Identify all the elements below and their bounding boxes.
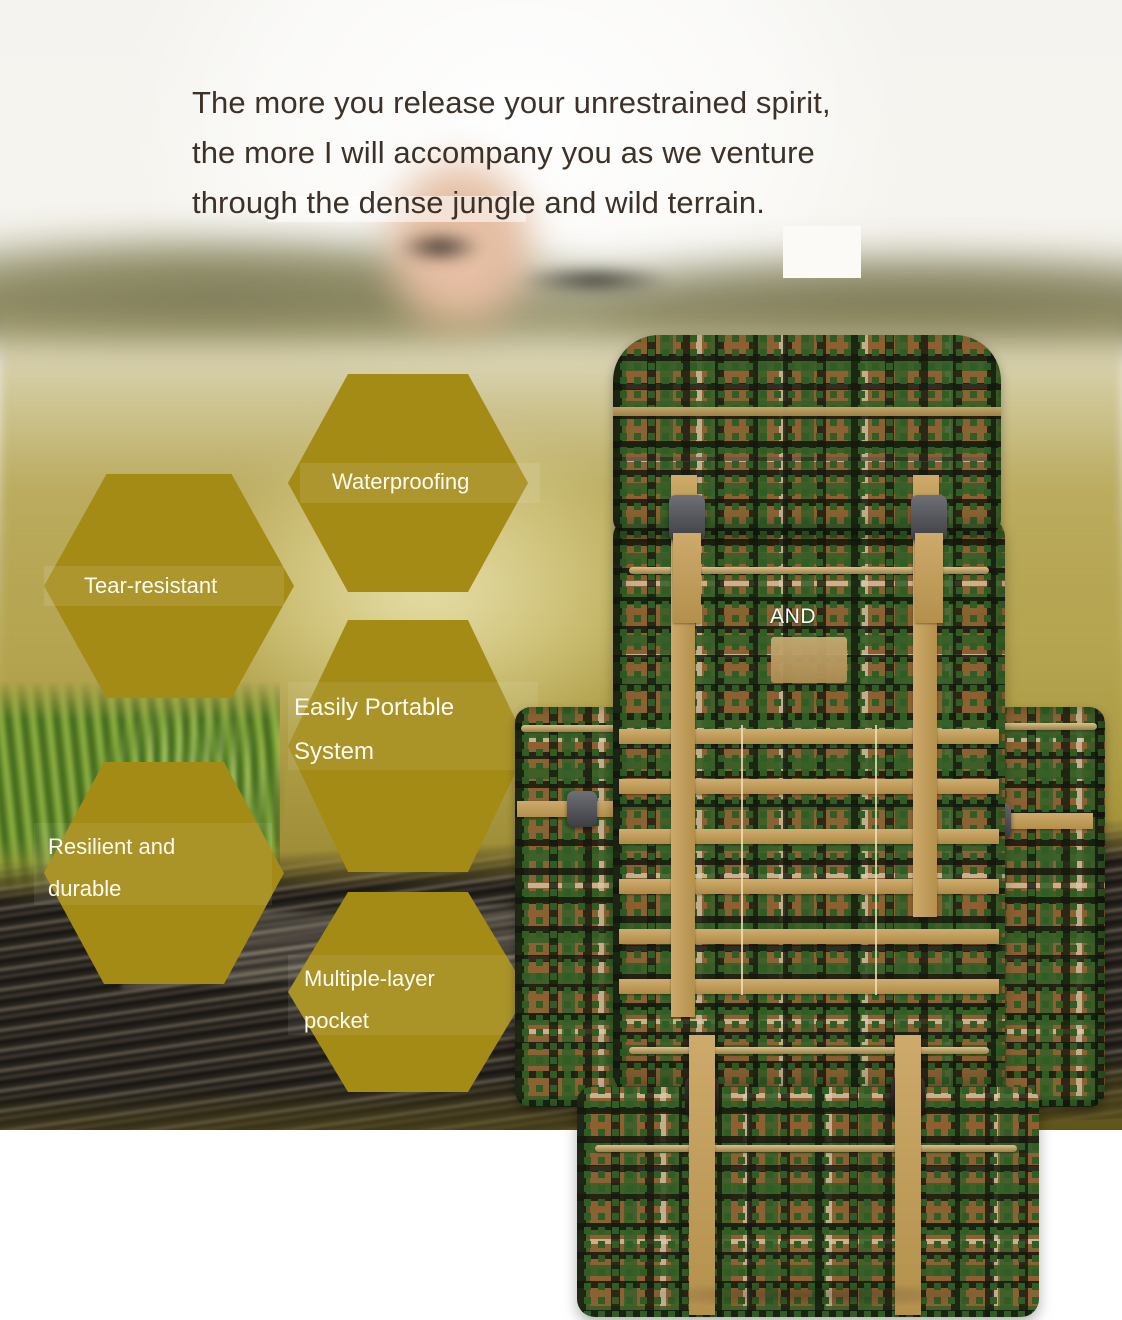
base-zipper [595,1145,1017,1152]
main-pocket-zipper-bottom [629,1047,989,1054]
molle-stitch-left [741,725,743,995]
backpack-product-image [505,335,1105,1320]
lid-strap-tail-left [673,533,701,623]
lid-seam-line [613,457,1001,461]
promo-banner: The more you release your unrestrained s… [0,0,1122,1320]
base-strap-left [689,1035,715,1315]
backpack-side-pocket-right [993,707,1105,1107]
backpack-main-body [613,517,1005,1097]
headline-text: The more you release your unrestrained s… [192,78,852,228]
product-overlay-label: AND [770,605,816,629]
feature-label-multiple-layer-pocket: Multiple-layer pocket [304,958,504,1042]
molle-stitch-right [875,725,877,995]
base-strap-right [895,1035,921,1315]
headline-backing-plate-2 [783,226,861,278]
compression-buckle-left [567,791,597,827]
product-ground-shadow [540,1275,1080,1315]
velcro-patch [771,637,847,683]
side-pocket-zipper-right [997,723,1097,730]
side-pocket-zipper-left [521,725,625,732]
feature-label-resilient-durable: Resilient and durable [48,826,238,910]
lid-strap-tail-right [915,533,943,623]
lid-trim-band [613,407,1001,416]
feature-label-easily-portable: Easily Portable System [294,686,504,774]
feature-label-tear-resistant: Tear-resistant [84,570,314,602]
